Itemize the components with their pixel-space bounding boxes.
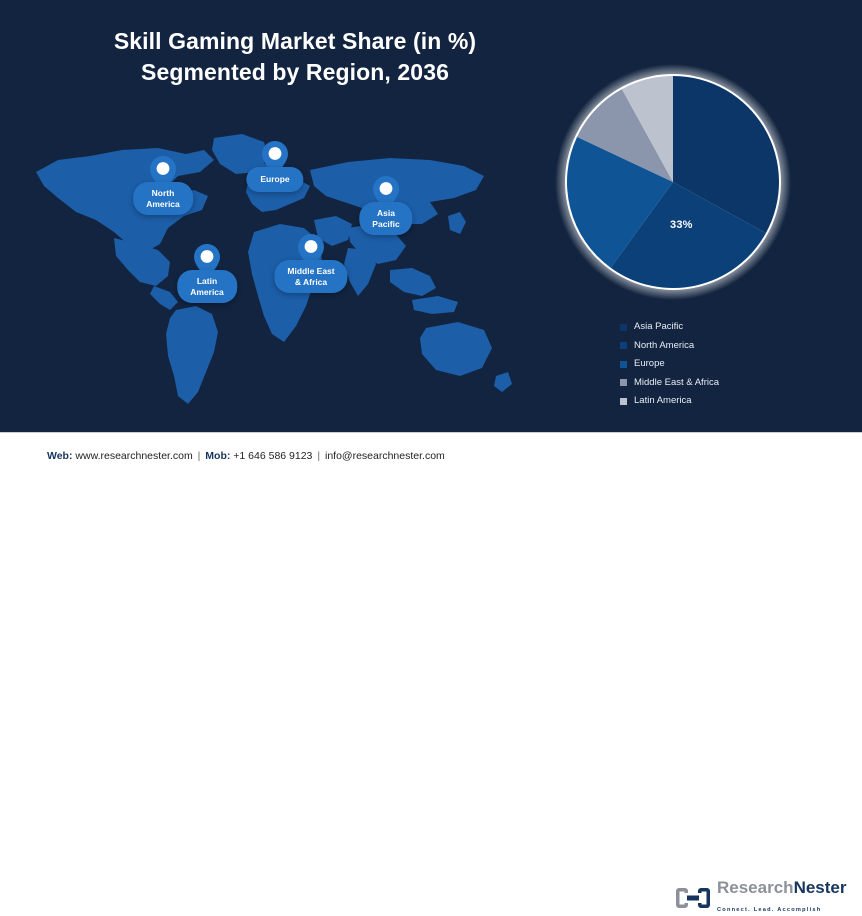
legend-item-north-america[interactable]: North America: [620, 337, 719, 355]
footer-separator: |: [196, 450, 203, 462]
world-map: North America Europe: [18, 120, 518, 420]
region-label-line-1: North: [152, 188, 175, 198]
legend-label: Europe: [634, 355, 665, 373]
footer-web-value[interactable]: www.researchnester.com: [75, 450, 192, 462]
pie-chart-svg: [553, 62, 793, 302]
legend-swatch-icon: [620, 361, 627, 368]
legend-swatch-icon: [620, 324, 627, 331]
footer: Web: www.researchnester.com | Mob: +1 64…: [0, 432, 862, 485]
region-label-line-1: Asia: [377, 208, 395, 218]
footer-contact-line: Web: www.researchnester.com | Mob: +1 64…: [47, 450, 445, 462]
legend-label: Asia Pacific: [634, 318, 683, 336]
research-nester-logo[interactable]: ResearchNester Connect. Lead. Accomplish: [676, 879, 862, 916]
main-panel: Skill Gaming Market Share (in %) Segment…: [0, 0, 862, 432]
map-label-north-america: North America: [133, 182, 193, 215]
map-label-middle-east-africa: Middle East & Africa: [274, 260, 347, 293]
logo-mark-icon: [676, 886, 710, 910]
footer-email-value[interactable]: info@researchnester.com: [325, 450, 445, 462]
legend-item-latin-america[interactable]: Latin America: [620, 392, 719, 410]
legend-item-middle-east-africa[interactable]: Middle East & Africa: [620, 374, 719, 392]
region-label-line-1: Latin: [197, 276, 217, 286]
logo-title: ResearchNester: [717, 878, 846, 897]
footer-mob-value: +1 646 586 9123: [233, 450, 312, 462]
logo-word-nester: Nester: [794, 878, 847, 897]
map-label-latin-america: Latin America: [177, 270, 237, 303]
region-label-line-2: America: [190, 287, 224, 297]
logo-text: ResearchNester Connect. Lead. Accomplish: [717, 879, 862, 916]
legend-swatch-icon: [620, 398, 627, 405]
legend-swatch-icon: [620, 379, 627, 386]
legend-item-asia-pacific[interactable]: Asia Pacific: [620, 318, 719, 336]
region-label-line-2: Pacific: [372, 219, 399, 229]
map-label-asia-pacific: Asia Pacific: [359, 202, 412, 235]
chart-legend: Asia Pacific North America Europe Middle…: [620, 318, 719, 411]
title-line-1: Skill Gaming Market Share (in %): [114, 28, 476, 54]
footer-web-label: Web:: [47, 450, 72, 462]
region-label-line-2: America: [146, 199, 180, 209]
legend-label: North America: [634, 337, 694, 355]
map-label-europe: Europe: [246, 167, 303, 192]
title-line-2: Segmented by Region, 2036: [60, 57, 530, 88]
footer-divider: [0, 432, 862, 433]
logo-tagline: Connect. Lead. Accomplish: [717, 907, 821, 913]
pie-slices: [567, 76, 779, 288]
pie-chart: 33%: [553, 62, 793, 302]
region-label-line-2: & Africa: [295, 277, 327, 287]
legend-swatch-icon: [620, 342, 627, 349]
pie-slice-label-asia-pacific: 33%: [670, 219, 693, 231]
logo-word-research: Research: [717, 878, 794, 897]
legend-label: Middle East & Africa: [634, 374, 719, 392]
footer-mob-label: Mob:: [205, 450, 230, 462]
region-label-line-1: Europe: [260, 174, 289, 184]
infographic-root: Skill Gaming Market Share (in %) Segment…: [0, 0, 862, 485]
legend-item-europe[interactable]: Europe: [620, 355, 719, 373]
legend-label: Latin America: [634, 392, 692, 410]
region-label-line-1: Middle East: [287, 266, 334, 276]
footer-separator: |: [315, 450, 322, 462]
page-title: Skill Gaming Market Share (in %) Segment…: [60, 26, 530, 88]
